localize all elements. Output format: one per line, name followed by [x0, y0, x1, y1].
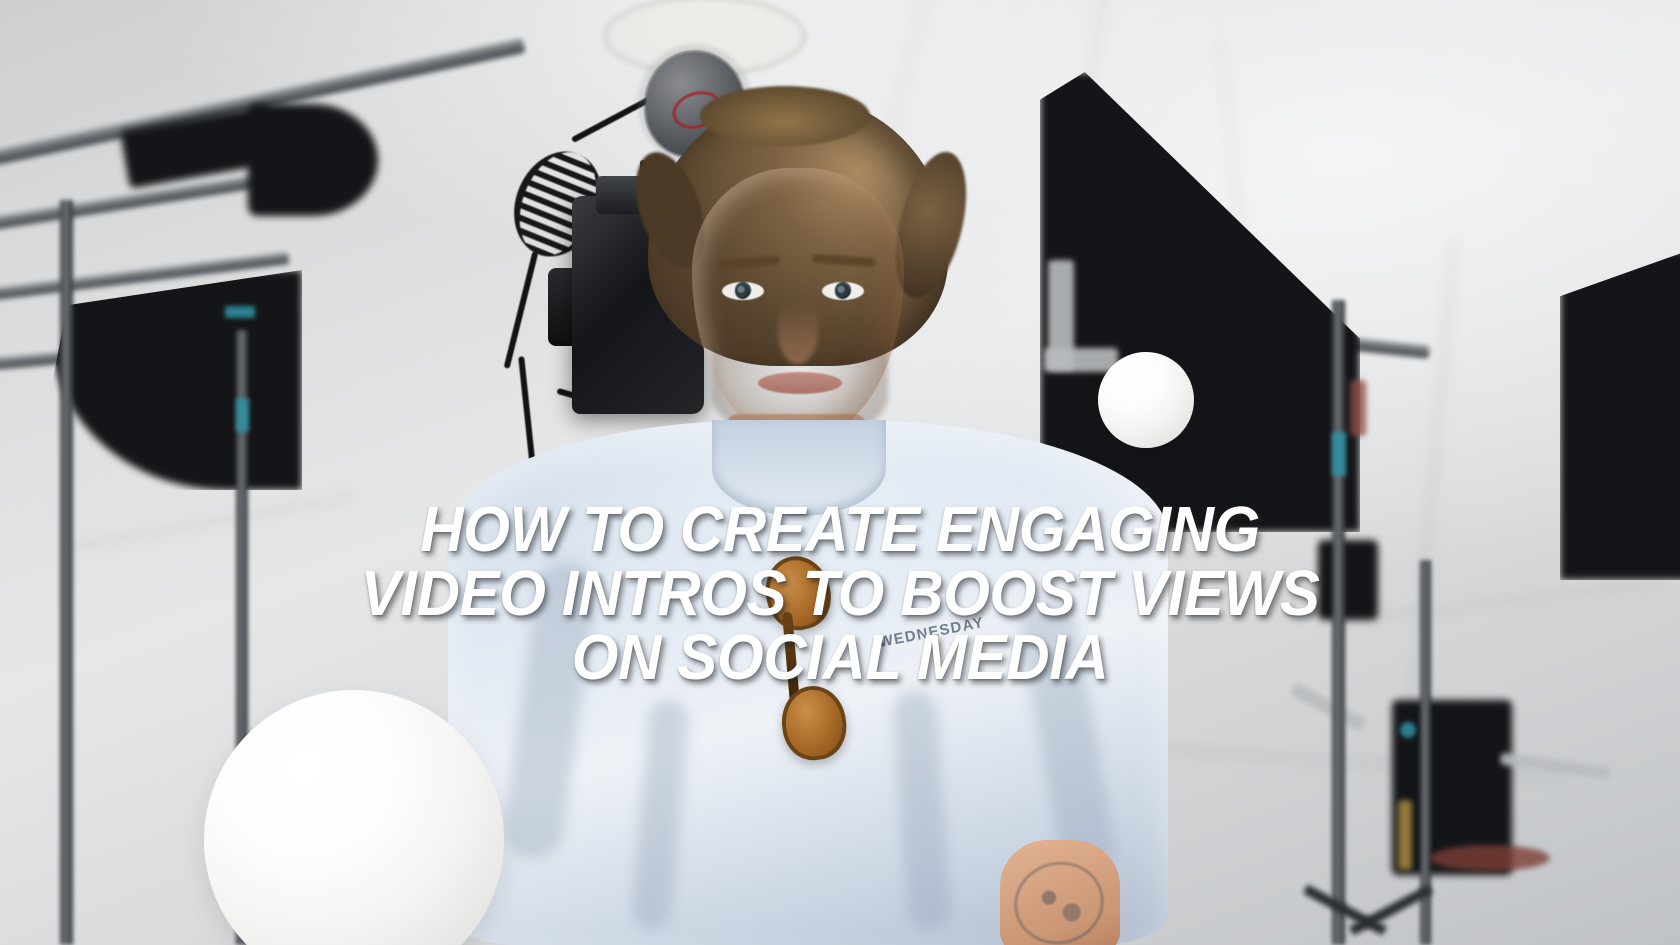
thumbnail-canvas: WEDNESDAY HOW TO CREATE ENGAGING VIDEO I… [0, 0, 1680, 945]
title-line-3: ON SOCIAL MEDIA [88, 625, 1592, 689]
subject-hair [700, 86, 870, 146]
subject-eye [722, 282, 764, 300]
title-block: HOW TO CREATE ENGAGING VIDEO INTROS TO B… [0, 497, 1680, 689]
subject-eye [822, 282, 864, 300]
audio-cable [504, 251, 539, 369]
title-line-1: HOW TO CREATE ENGAGING [88, 497, 1592, 561]
subject-lips [758, 372, 842, 394]
small-sphere [1098, 352, 1194, 448]
title-line-2: VIDEO INTROS TO BOOST VIEWS [88, 561, 1592, 625]
